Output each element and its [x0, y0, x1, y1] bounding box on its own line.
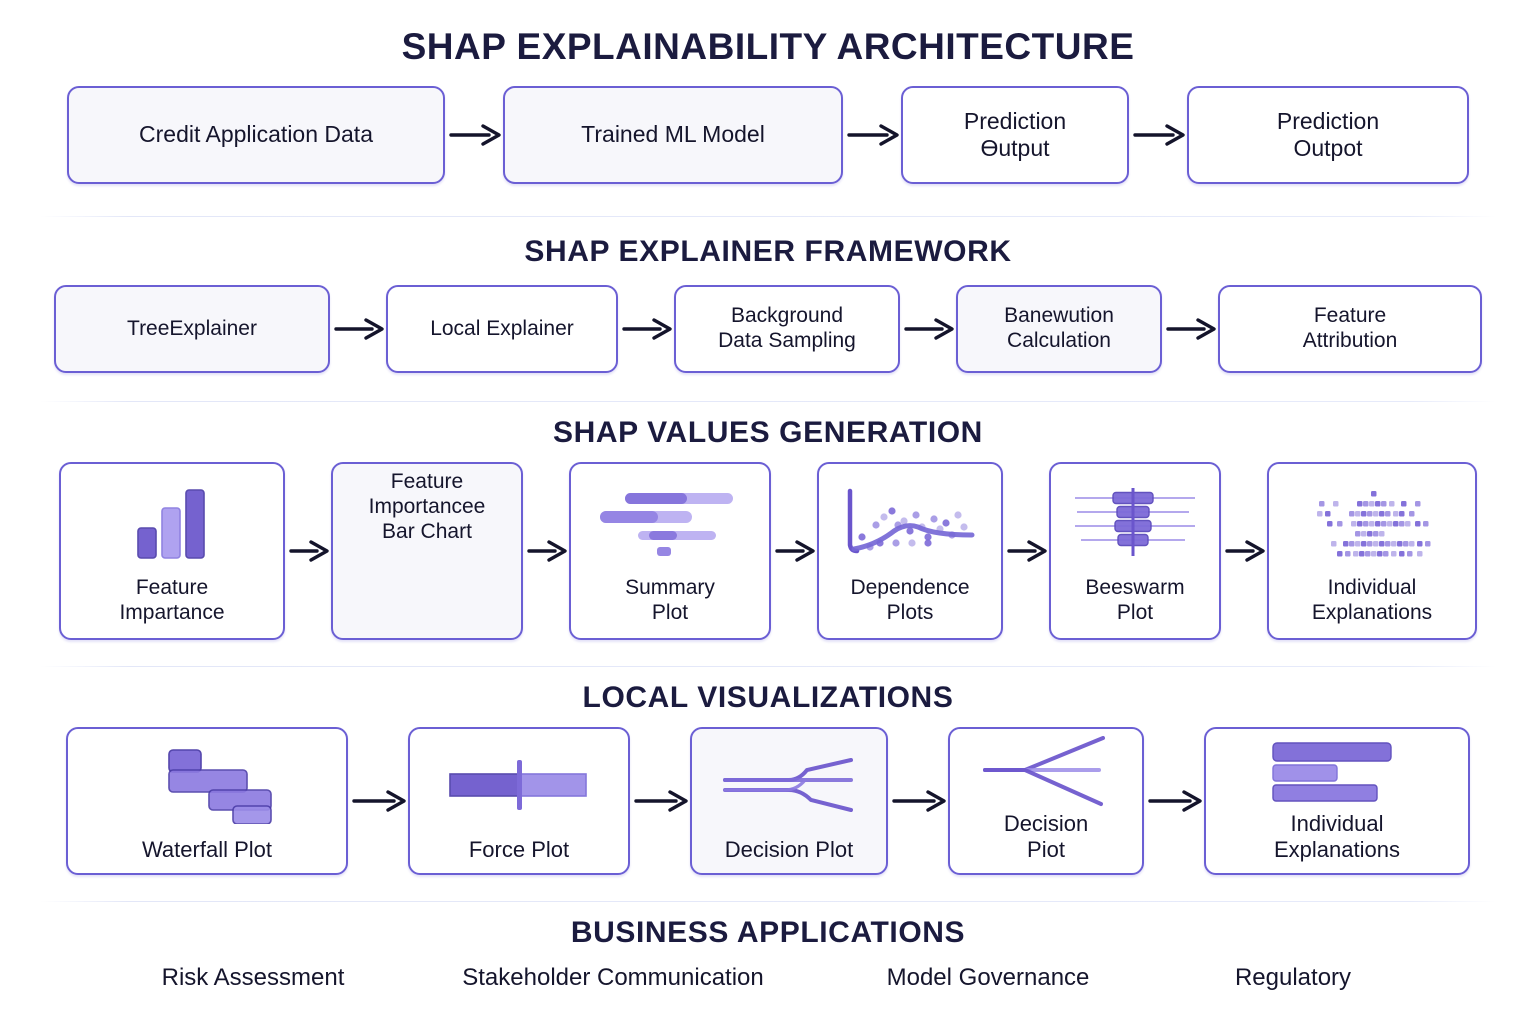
- flow-arrow-icon: [330, 314, 386, 344]
- diagram-canvas: SHAP EXPLAINABILITY ARCHITECTURE Credit …: [0, 0, 1536, 1024]
- node-local-visualizations-1[interactable]: Force Plot: [408, 727, 630, 875]
- business-application-item[interactable]: Risk Assessment: [103, 964, 403, 992]
- node-explainer-framework-4[interactable]: Feature Attribution: [1218, 285, 1482, 373]
- flow-arrow-icon: [285, 536, 331, 566]
- node-label: Feature Importancee Bar Chart: [359, 470, 496, 556]
- node-architecture-2[interactable]: Prediction Ɵutput: [901, 86, 1129, 184]
- node-explainer-framework-0[interactable]: TreeExplainer: [54, 285, 330, 373]
- node-shap-values-generation-0[interactable]: Feature Impartance: [59, 462, 285, 640]
- flow-arrow-icon: [630, 786, 690, 816]
- swarm-scatter-icon: [1269, 470, 1475, 576]
- business-application-item[interactable]: Stakeholder Communication: [403, 964, 823, 992]
- flow-arrow-icon: [843, 120, 901, 150]
- waterfall-plot-icon: [68, 733, 346, 837]
- flow-arrow-icon: [523, 536, 569, 566]
- section-title-local-visualizations: LOCAL VISUALIZATIONS: [0, 681, 1536, 715]
- section-divider: [40, 666, 1496, 667]
- business-application-label: Model Governance: [887, 964, 1090, 991]
- flow-arrow-icon: [1162, 314, 1218, 344]
- flow-arrow-icon: [1144, 786, 1204, 816]
- node-architecture-3[interactable]: Prediction Outpot: [1187, 86, 1469, 184]
- node-local-visualizations-0[interactable]: Waterfall Plot: [66, 727, 348, 875]
- node-label: Summary Plot: [615, 576, 725, 638]
- node-local-visualizations-3[interactable]: Decision Piot: [948, 727, 1144, 875]
- row-shap-values-generation: Feature ImpartanceFeature Importancee Ba…: [0, 462, 1536, 640]
- business-applications-list: Risk AssessmentStakeholder Communication…: [0, 964, 1536, 992]
- node-architecture-1[interactable]: Trained ML Model: [503, 86, 843, 184]
- node-label: Feature Attribution: [1293, 304, 1408, 354]
- section-title-business-applications: BUSINESS APPLICATIONS: [0, 916, 1536, 950]
- bar-chart-icon: [61, 470, 283, 576]
- node-label: Dependence Plots: [840, 576, 979, 638]
- node-shap-values-generation-3[interactable]: Dependence Plots: [817, 462, 1003, 640]
- business-application-item[interactable]: Model Governance: [823, 964, 1153, 992]
- section-divider: [40, 216, 1496, 217]
- node-label: Beeswarm Plot: [1075, 576, 1194, 638]
- node-shap-values-generation-1[interactable]: Feature Importancee Bar Chart: [331, 462, 523, 640]
- node-label: Prediction Ɵutput: [954, 108, 1076, 162]
- page-title: SHAP EXPLAINABILITY ARCHITECTURE: [0, 0, 1536, 68]
- flow-arrow-icon: [1003, 536, 1049, 566]
- business-application-label: Risk Assessment: [162, 964, 345, 991]
- row-architecture: Credit Application DataTrained ML ModelP…: [0, 86, 1536, 184]
- summary-plot-icon: [571, 470, 769, 576]
- node-label: Prediction Outpot: [1267, 108, 1389, 162]
- section-divider: [40, 401, 1496, 402]
- business-application-item[interactable]: Regulatory: [1153, 964, 1433, 992]
- node-label: Trained ML Model: [571, 121, 775, 148]
- node-label: Local Explainer: [420, 317, 584, 342]
- node-architecture-0[interactable]: Credit Application Data: [67, 86, 445, 184]
- business-application-label: Stakeholder Communication: [462, 964, 764, 991]
- flow-arrow-icon: [618, 314, 674, 344]
- flow-arrow-icon: [900, 314, 956, 344]
- beeswarm-plot-icon: [1051, 470, 1219, 576]
- flow-arrow-icon: [888, 786, 948, 816]
- section-title-explainer-framework: SHAP EXPLAINER FRAMEWORK: [0, 235, 1536, 269]
- node-shap-values-generation-5[interactable]: Individual Explanations: [1267, 462, 1477, 640]
- node-label: Banewution Calculation: [994, 304, 1124, 354]
- node-label: Decision Plot: [715, 837, 863, 873]
- node-label: Individual Explanations: [1264, 811, 1410, 873]
- node-label: Background Data Sampling: [708, 304, 866, 354]
- node-explainer-framework-2[interactable]: Background Data Sampling: [674, 285, 900, 373]
- individual-bars-icon: [1206, 733, 1468, 811]
- node-label: Individual Explanations: [1302, 576, 1442, 638]
- node-label: Feature Impartance: [109, 576, 234, 638]
- node-local-visualizations-4[interactable]: Individual Explanations: [1204, 727, 1470, 875]
- flow-arrow-icon: [1129, 120, 1187, 150]
- row-explainer-framework: TreeExplainerLocal ExplainerBackground D…: [0, 285, 1536, 373]
- node-shap-values-generation-2[interactable]: Summary Plot: [569, 462, 771, 640]
- decision-piot-icon: [950, 733, 1142, 811]
- flow-arrow-icon: [348, 786, 408, 816]
- node-local-visualizations-2[interactable]: Decision Plot: [690, 727, 888, 875]
- node-explainer-framework-3[interactable]: Banewution Calculation: [956, 285, 1162, 373]
- node-label: Waterfall Plot: [132, 837, 282, 873]
- section-divider: [40, 901, 1496, 902]
- node-label: Force Plot: [459, 837, 579, 873]
- force-plot-icon: [410, 733, 628, 837]
- node-explainer-framework-1[interactable]: Local Explainer: [386, 285, 618, 373]
- row-local-visualizations: Waterfall PlotForce PlotDecision PlotDec…: [0, 727, 1536, 875]
- node-label: TreeExplainer: [117, 317, 267, 342]
- section-title-shap-values-generation: SHAP VALUES GENERATION: [0, 416, 1536, 450]
- flow-arrow-icon: [445, 120, 503, 150]
- decision-plot-icon: [692, 733, 886, 837]
- flow-arrow-icon: [771, 536, 817, 566]
- business-application-label: Regulatory: [1235, 964, 1351, 991]
- node-label: Credit Application Data: [129, 121, 383, 148]
- node-label: Decision Piot: [994, 811, 1098, 873]
- node-shap-values-generation-4[interactable]: Beeswarm Plot: [1049, 462, 1221, 640]
- flow-arrow-icon: [1221, 536, 1267, 566]
- dependence-plot-icon: [819, 470, 1001, 576]
